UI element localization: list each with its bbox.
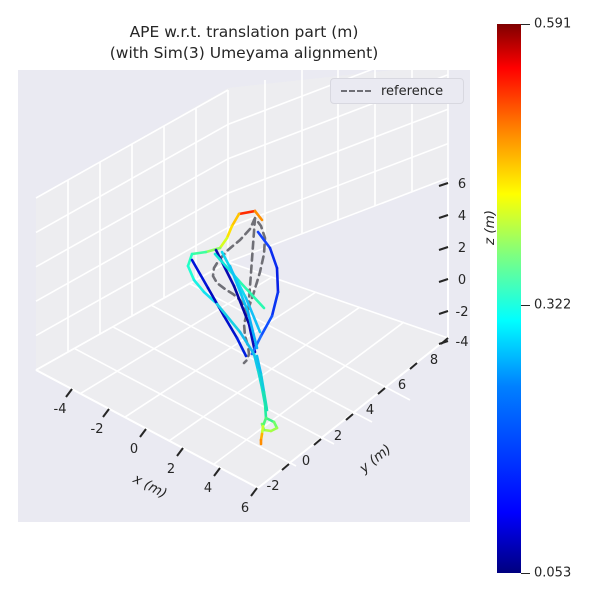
x-tick-label: 6 — [241, 501, 249, 516]
figure-canvas: APE w.r.t. translation part (m) (with Si… — [0, 0, 600, 600]
z-axis-tick-labels: 6 4 2 0 -2 -4 — [456, 177, 469, 350]
colorbar-gradient — [497, 24, 521, 573]
z-tick-label: 0 — [458, 273, 466, 288]
colorbar-max-label: 0.591 — [534, 17, 571, 32]
z-axis-title: z (m) — [482, 210, 498, 245]
colorbar-tick — [521, 305, 530, 306]
z-tick-label: 2 — [458, 241, 466, 256]
x-tick-label: 4 — [204, 481, 212, 496]
y-tick-label: 0 — [302, 454, 310, 469]
y-tick-label: -2 — [267, 479, 280, 494]
x-tick-label: 2 — [167, 462, 175, 477]
y-tick-label: 8 — [430, 353, 438, 368]
z-tick-label: -4 — [456, 335, 469, 350]
x-tick-label: -4 — [54, 402, 67, 417]
y-axis-title: y (m) — [356, 441, 395, 477]
y-tick-label: 2 — [334, 429, 342, 444]
plot-axes-3d: -4 -2 0 2 4 6 x (m) -2 0 2 4 — [18, 70, 470, 522]
legend-item-label: reference — [381, 84, 443, 99]
z-axis-ticks — [439, 183, 448, 344]
legend[interactable]: reference — [330, 78, 464, 104]
colorbar: 0.591 0.322 0.053 — [497, 24, 521, 573]
colorbar-min-label: 0.053 — [534, 566, 571, 581]
x-tick-label: 0 — [130, 442, 138, 457]
x-axis-title: x (m) — [129, 470, 169, 501]
axes-svg: -4 -2 0 2 4 6 x (m) -2 0 2 4 — [18, 70, 470, 522]
y-tick-label: 4 — [366, 403, 374, 418]
reference-line-swatch — [341, 90, 371, 92]
colorbar-tick — [521, 24, 530, 25]
colorbar-mid-label: 0.322 — [534, 298, 571, 313]
x-tick-label: -2 — [91, 422, 104, 437]
colorbar-tick — [521, 573, 530, 574]
z-tick-label: 6 — [458, 177, 466, 192]
z-tick-label: 4 — [458, 209, 466, 224]
z-tick-label: -2 — [456, 305, 469, 320]
y-tick-label: 6 — [398, 378, 406, 393]
page-title: APE w.r.t. translation part (m) (with Si… — [18, 22, 470, 64]
